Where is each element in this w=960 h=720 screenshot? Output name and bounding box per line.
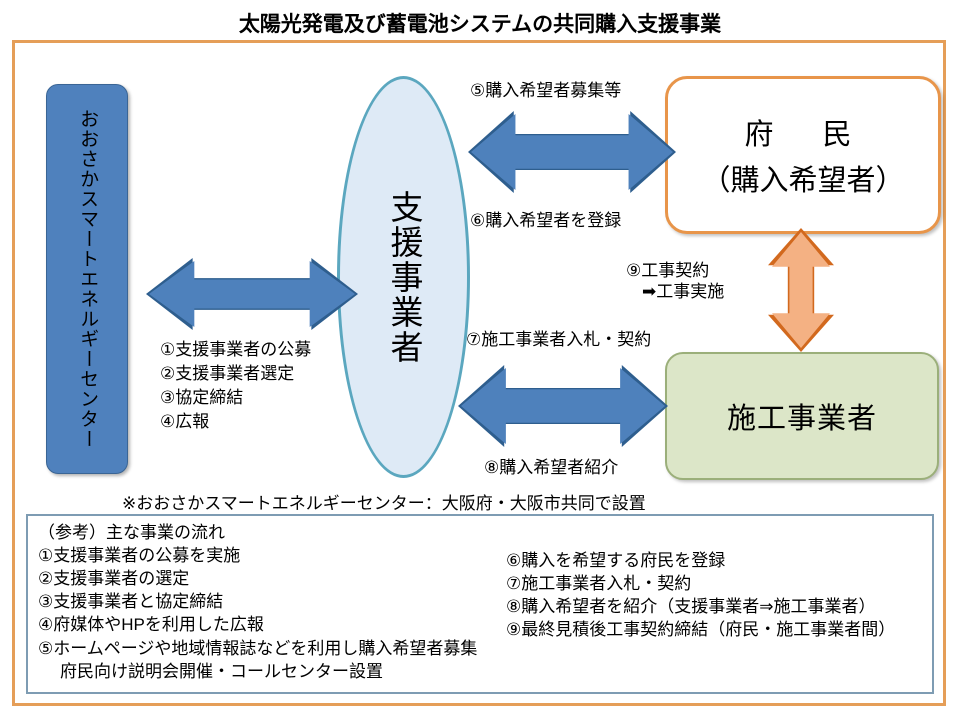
reference-heading: （参考）主な事業の流れ <box>38 521 477 544</box>
left-step-item: ③協定締結 <box>160 386 311 410</box>
node-residents-label-line2: （購入希望者） <box>701 157 904 199</box>
node-constructors-label: 施工事業者 <box>727 395 877 437</box>
reference-box: （参考）主な事業の流れ ①支援事業者の公募を実施 ②支援事業者の選定 ③支援事業… <box>26 514 934 694</box>
flow-label-step6: ⑥購入希望者を登録 <box>470 206 621 231</box>
left-step-item: ④広報 <box>160 410 311 434</box>
reference-list-item: ⑧購入希望者を紹介（支援事業者⇒施工事業者） <box>506 595 895 618</box>
flow-label-step5: ⑤購入希望者募集等 <box>470 76 621 101</box>
node-supporter: 支援事業者 <box>337 76 470 478</box>
node-residents-label-line1: 府 民 <box>744 111 861 153</box>
flow-label-step8: ⑧購入希望者紹介 <box>484 453 618 478</box>
node-smart-energy-center-label: おおさかスマートエネルギーセンター <box>77 109 97 449</box>
page-title: 太陽光発電及び蓄電池システムの共同購入支援事業 <box>0 8 960 38</box>
reference-list-item: ⑥購入を希望する府民を登録 <box>506 549 895 572</box>
flow-label-step7: ⑦施工事業者入札・契約 <box>466 325 651 350</box>
left-steps-list: ①支援事業者の公募 ②支援事業者選定 ③協定締結 ④広報 <box>160 338 311 435</box>
node-constructors: 施工事業者 <box>665 352 939 480</box>
flow-label-step9: ⑨工事契約 ➡工事実施 <box>626 260 724 303</box>
node-residents: 府 民 （購入希望者） <box>665 76 941 234</box>
reference-right-column: ⑥購入を希望する府民を登録 ⑦施工事業者入札・契約 ⑧購入希望者を紹介（支援事業… <box>506 549 895 641</box>
reference-list-item: ⑦施工事業者入札・契約 <box>506 572 895 595</box>
node-supporter-label: 支援事業者 <box>384 190 423 365</box>
reference-list-item: ①支援事業者の公募を実施 <box>38 544 477 567</box>
flow-label-step9-line1: ⑨工事契約 <box>626 261 709 280</box>
node-smart-energy-center: おおさかスマートエネルギーセンター <box>46 84 128 474</box>
reference-list-item: ②支援事業者の選定 <box>38 567 477 590</box>
footnote-smart-energy-center: ※おおさかスマートエネルギーセンター：大阪府・大阪市共同で設置 <box>122 489 646 514</box>
reference-left-column: （参考）主な事業の流れ ①支援事業者の公募を実施 ②支援事業者の選定 ③支援事業… <box>38 521 477 683</box>
left-step-item: ①支援事業者の公募 <box>160 338 311 362</box>
reference-list-item: ⑨最終見積後工事契約締結（府民・施工事業者間） <box>506 618 895 641</box>
reference-list-item: ④府媒体やHPを利用した広報 <box>38 613 477 636</box>
reference-list-item: ③支援事業者と協定締結 <box>38 590 477 613</box>
left-step-item: ②支援事業者選定 <box>160 362 311 386</box>
flow-label-step9-line2: ➡工事実施 <box>626 281 724 302</box>
reference-list-item: ⑤ホームページや地域情報誌などを利用し購入希望者募集 <box>38 637 477 660</box>
reference-list-item-continuation: 府民向け説明会開催・コールセンター設置 <box>38 660 477 683</box>
